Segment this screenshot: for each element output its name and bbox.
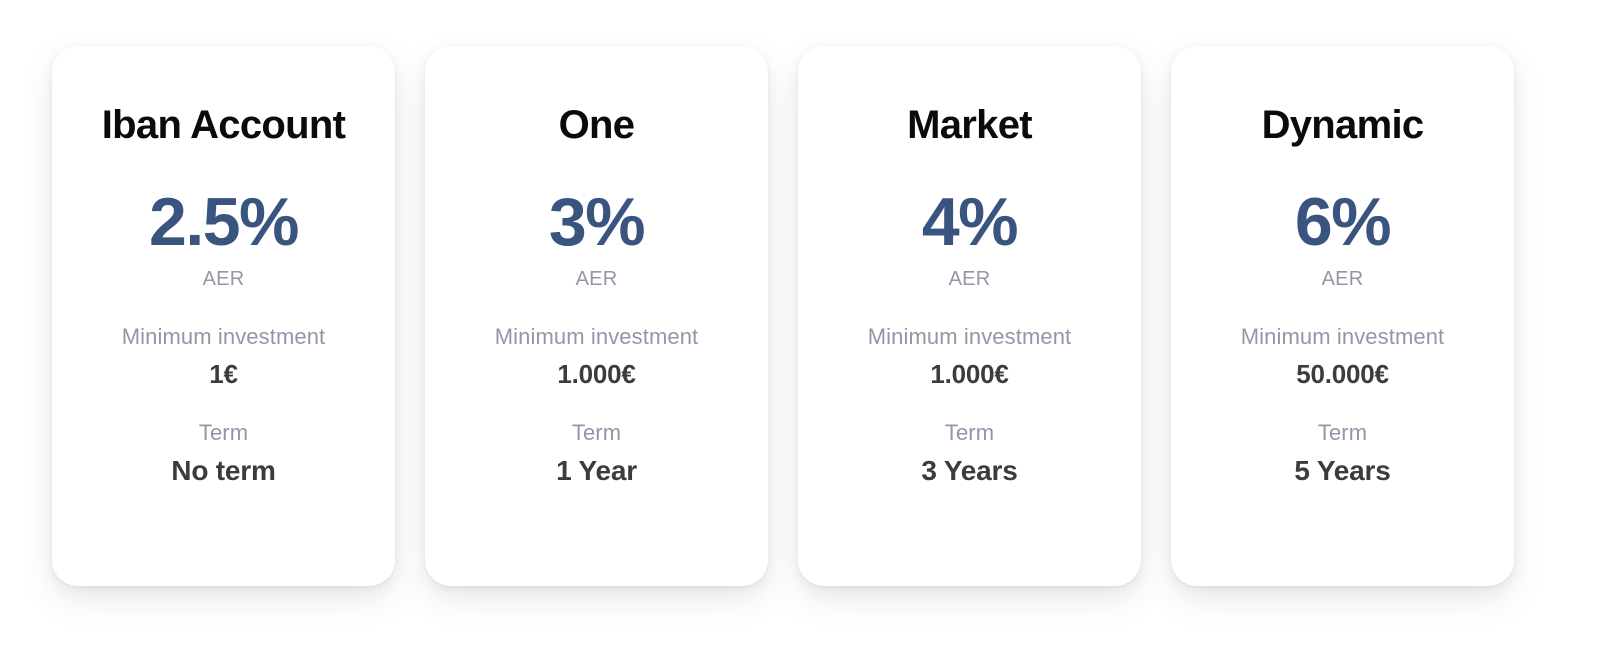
plan-minimum-investment-label: Minimum investment xyxy=(122,325,326,349)
plan-term-label: Term xyxy=(945,421,994,445)
plan-minimum-investment-block: Minimum investment 1.000€ xyxy=(495,325,699,389)
plan-rate-value: 3% xyxy=(549,188,644,256)
plan-rate-value: 4% xyxy=(922,188,1017,256)
pricing-plans-board: Iban Account 2.5% AER Minimum investment… xyxy=(0,0,1600,649)
plan-minimum-investment-label: Minimum investment xyxy=(495,325,699,349)
plan-rate-block: 2.5% AER xyxy=(149,188,298,289)
plan-term-label: Term xyxy=(572,421,621,445)
plan-term-block: Term 1 Year xyxy=(556,421,637,487)
plan-minimum-investment-value: 50.000€ xyxy=(1296,360,1389,389)
plan-term-value: 3 Years xyxy=(921,456,1017,487)
plan-title: Dynamic xyxy=(1262,104,1424,146)
plan-rate-value: 2.5% xyxy=(149,188,298,256)
plan-minimum-investment-value: 1.000€ xyxy=(557,360,635,389)
plan-minimum-investment-value: 1€ xyxy=(209,360,238,389)
plan-card-one[interactable]: One 3% AER Minimum investment 1.000€ Ter… xyxy=(425,46,768,586)
plan-card-market[interactable]: Market 4% AER Minimum investment 1.000€ … xyxy=(798,46,1141,586)
plan-term-value: 5 Years xyxy=(1294,456,1390,487)
plan-term-label: Term xyxy=(199,421,248,445)
plan-term-block: Term 5 Years xyxy=(1294,421,1390,487)
plan-term-block: Term 3 Years xyxy=(921,421,1017,487)
plan-minimum-investment-label: Minimum investment xyxy=(868,325,1072,349)
plan-title: Iban Account xyxy=(102,104,345,146)
plan-rate-caption: AER xyxy=(576,269,618,289)
plan-rate-value: 6% xyxy=(1295,188,1390,256)
plan-term-value: 1 Year xyxy=(556,456,637,487)
plan-rate-block: 6% AER xyxy=(1295,188,1390,289)
plan-minimum-investment-block: Minimum investment 50.000€ xyxy=(1241,325,1445,389)
plan-title: Market xyxy=(907,104,1032,146)
plan-rate-block: 4% AER xyxy=(922,188,1017,289)
plan-card-iban-account[interactable]: Iban Account 2.5% AER Minimum investment… xyxy=(52,46,395,586)
plan-card-dynamic[interactable]: Dynamic 6% AER Minimum investment 50.000… xyxy=(1171,46,1514,586)
plan-minimum-investment-value: 1.000€ xyxy=(930,360,1008,389)
plan-rate-caption: AER xyxy=(949,269,991,289)
plan-minimum-investment-block: Minimum investment 1.000€ xyxy=(868,325,1072,389)
plan-rate-block: 3% AER xyxy=(549,188,644,289)
plan-minimum-investment-label: Minimum investment xyxy=(1241,325,1445,349)
plan-cards-row: Iban Account 2.5% AER Minimum investment… xyxy=(52,46,1514,586)
plan-rate-caption: AER xyxy=(1322,269,1364,289)
plan-term-block: Term No term xyxy=(171,421,275,487)
plan-term-value: No term xyxy=(171,456,275,487)
plan-minimum-investment-block: Minimum investment 1€ xyxy=(122,325,326,389)
plan-term-label: Term xyxy=(1318,421,1367,445)
plan-rate-caption: AER xyxy=(203,269,245,289)
plan-title: One xyxy=(559,104,635,146)
